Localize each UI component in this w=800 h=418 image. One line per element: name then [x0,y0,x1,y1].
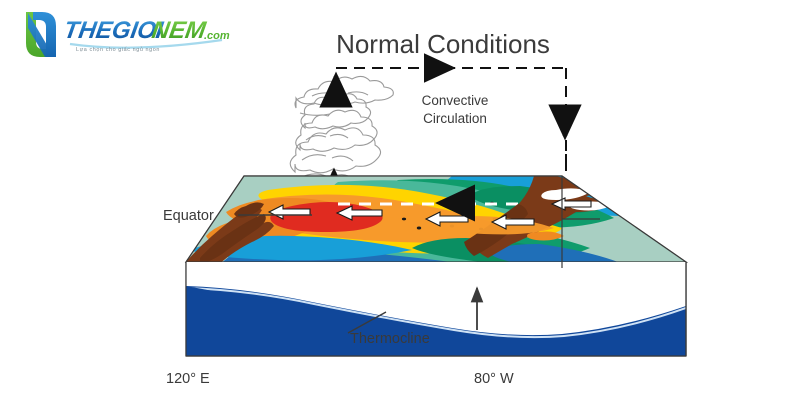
thermocline-label: Thermocline [350,331,430,347]
ocean-cross-section [186,262,686,356]
page-title: Normal Conditions [336,29,550,59]
diagram-canvas: THEGIOI NEM .com Lựa chọn cho giấc ngủ n… [0,0,800,418]
convective-circulation-label-line1: Convective [422,93,489,108]
enso-normal-conditions-figure: Normal Conditions Convective Circulation [0,0,800,418]
axis-label-left: 120° E [166,371,210,387]
equator-label: Equator [163,208,214,224]
convective-circulation-label-line2: Circulation [423,111,487,126]
axis-label-right: 80° W [474,371,514,387]
